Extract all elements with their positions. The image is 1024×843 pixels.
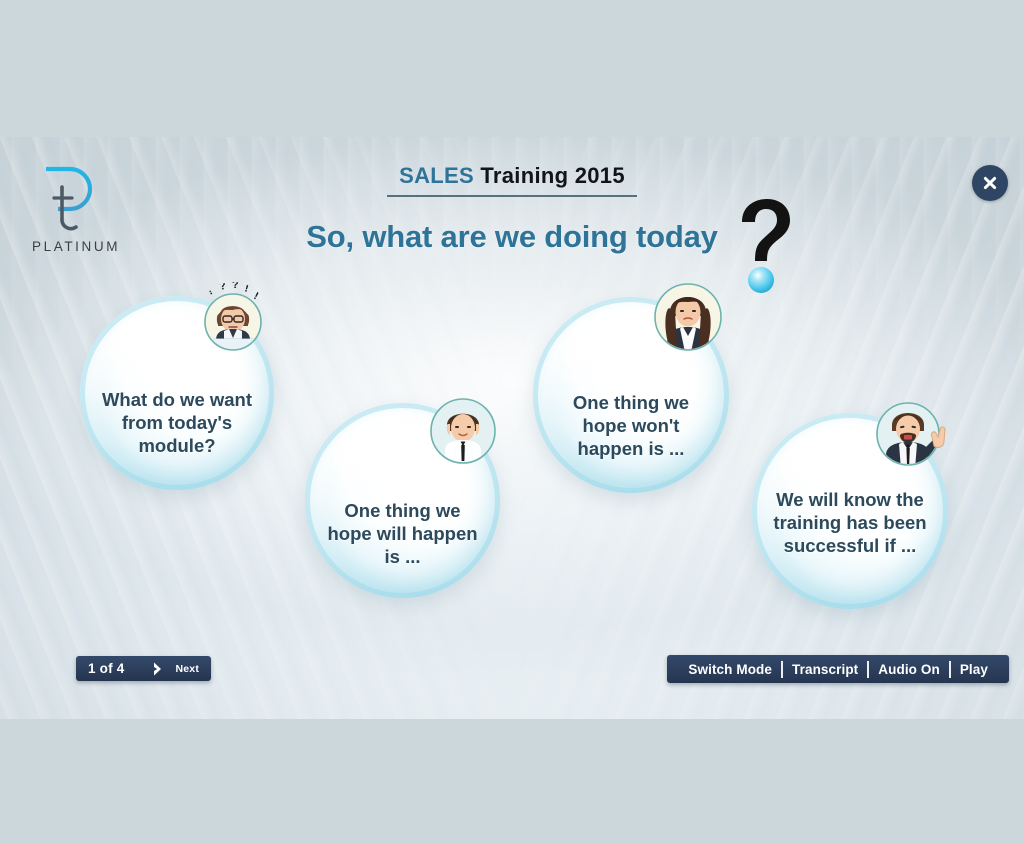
svg-text:!: ! — [252, 290, 261, 302]
close-button[interactable] — [972, 165, 1008, 201]
bubble-text: One thing we hope won't happen is ... — [549, 392, 714, 460]
close-icon — [982, 175, 998, 191]
chevron-right-icon[interactable] — [148, 660, 166, 678]
page-title-text: So, what are we doing today — [306, 219, 717, 255]
question-mark-icon — [735, 197, 795, 295]
bubble-text: One thing we hope will happen is ... — [321, 500, 485, 568]
bubble-text: We will know the training has been succe… — [768, 489, 933, 557]
toolbar-separator — [781, 661, 783, 678]
avatar-woman-long-hair-icon — [653, 282, 723, 352]
question-bubble-1[interactable]: ! ? ? ! ! — [80, 296, 274, 490]
svg-text:?: ? — [218, 282, 227, 293]
svg-text:!: ! — [243, 282, 250, 295]
slide-header: SALES Training 2015 — [0, 163, 1024, 197]
kicker-highlight: SALES — [399, 163, 474, 188]
player-toolbar[interactable]: Switch Mode Transcript Audio On Play — [667, 655, 1009, 683]
svg-text:?: ? — [232, 282, 239, 291]
avatar-man-beard-waving-icon — [874, 399, 944, 469]
toolbar-item-play[interactable]: Play — [951, 662, 997, 677]
course-kicker: SALES Training 2015 — [387, 163, 637, 197]
toolbar-item-switch-mode[interactable]: Switch Mode — [679, 662, 781, 677]
page-title: So, what are we doing today — [0, 219, 1024, 255]
question-bubble-3[interactable]: One thing we hope won't happen is ... — [533, 297, 729, 493]
toolbar-item-transcript[interactable]: Transcript — [783, 662, 867, 677]
svg-text:!: ! — [206, 285, 215, 297]
toolbar-separator — [949, 661, 951, 678]
player-page: PLATINUM SALES Training 2015 So, what ar… — [0, 0, 1024, 843]
toolbar-separator — [867, 661, 869, 678]
question-bubble-2[interactable]: One thing we hope will happen is ... — [305, 403, 500, 598]
bubble-text: What do we want from today's module? — [96, 389, 259, 457]
avatar-man-tie-icon — [429, 397, 497, 465]
toolbar-item-audio-on[interactable]: Audio On — [869, 662, 949, 677]
kicker-rest: Training 2015 — [474, 163, 625, 188]
slide-stage: PLATINUM SALES Training 2015 So, what ar… — [0, 137, 1024, 719]
page-counter: 1 of 4 — [88, 661, 124, 676]
avatar-woman-glasses-laptop-icon: ! ? ? ! ! — [198, 282, 268, 352]
question-bubble-4[interactable]: We will know the training has been succe… — [752, 413, 948, 609]
next-button-label[interactable]: Next — [175, 663, 199, 675]
page-nav-bar[interactable]: 1 of 4 Next — [76, 656, 211, 681]
